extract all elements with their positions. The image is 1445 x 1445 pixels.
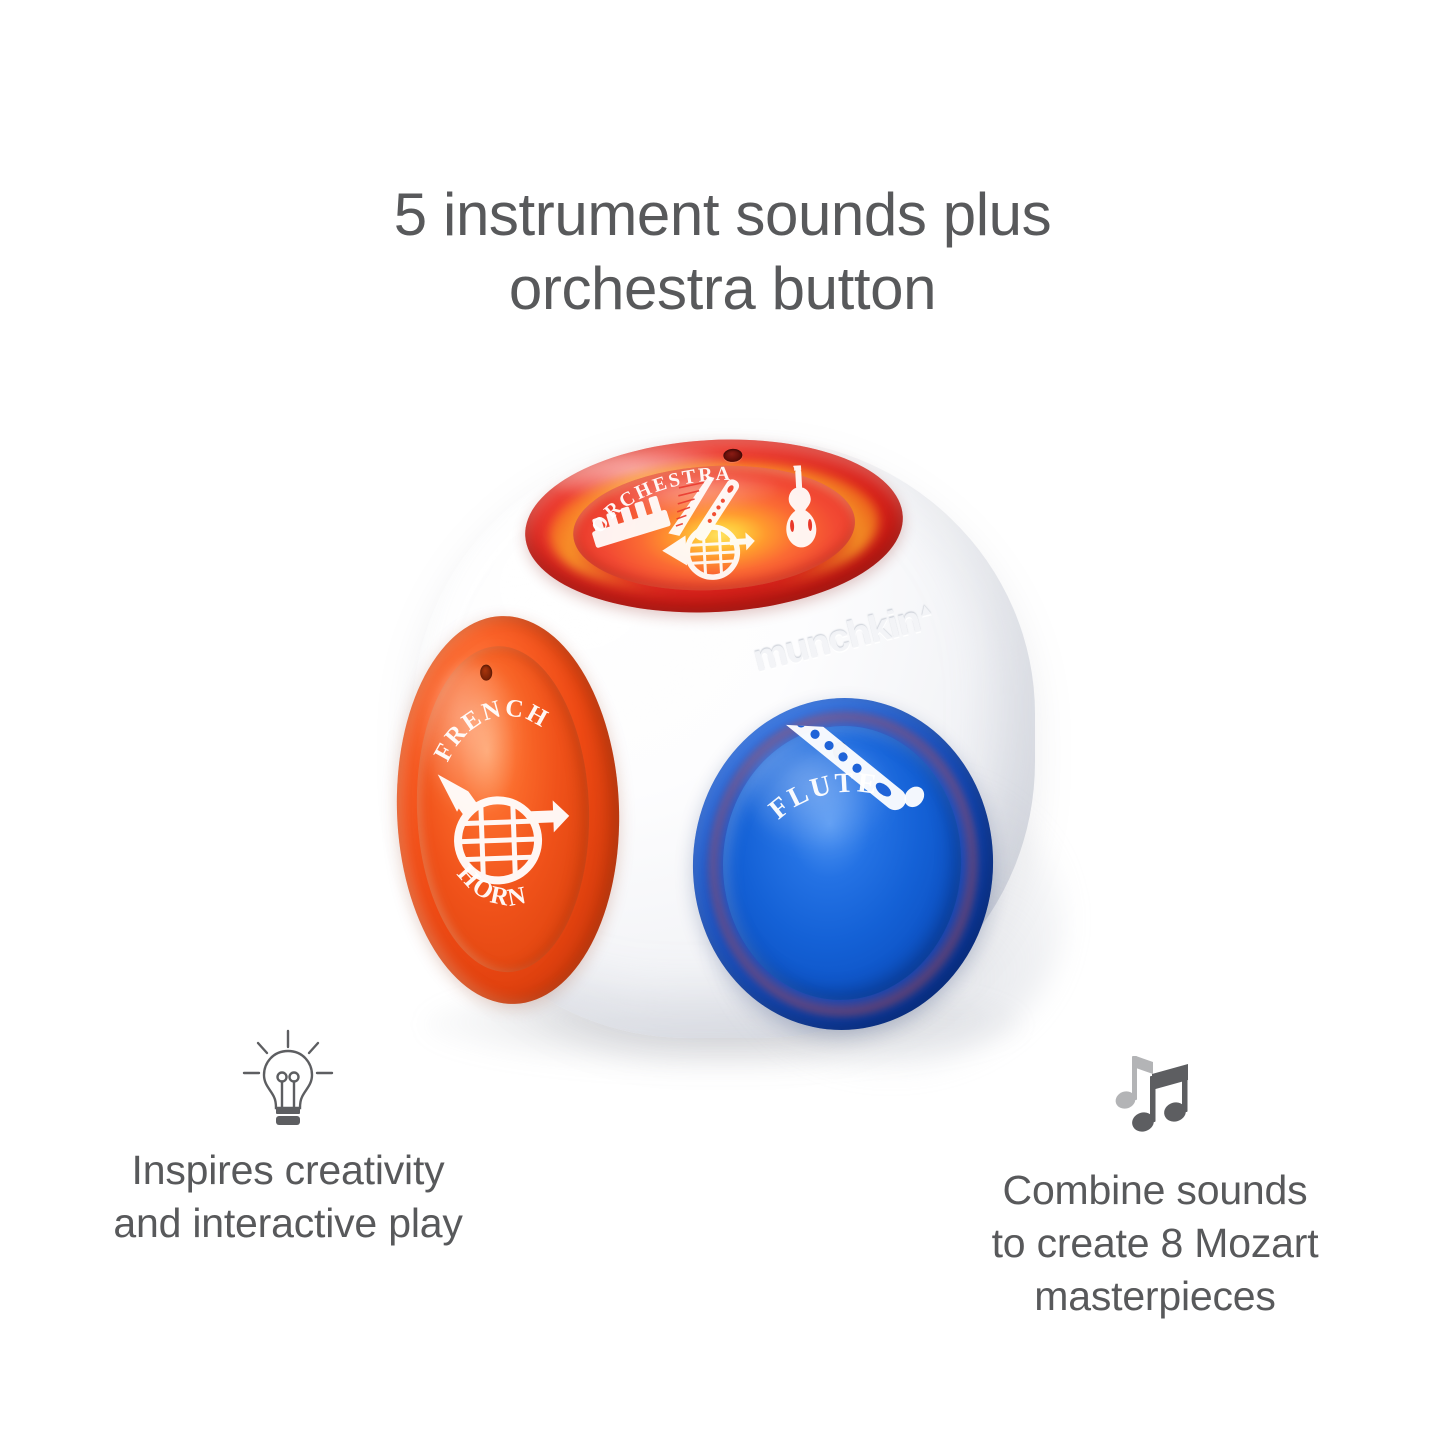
feature-caption-line-2: to create 8 Mozart (915, 1217, 1395, 1270)
page-title-line-2: orchestra button (0, 252, 1445, 326)
french-horn-button[interactable]: FRENCH HORN (390, 612, 625, 1008)
product-image: munchkin▲ ORCHESTRA (385, 420, 1060, 1100)
feature-icon-wrap (915, 1042, 1395, 1154)
orchestra-button[interactable]: ORCHESTRA (521, 430, 907, 622)
feature-inspires-creativity: Inspires creativity and interactive play (48, 1022, 528, 1250)
music-note-single-icon (1113, 1056, 1153, 1111)
feature-caption-line-1: Inspires creativity (48, 1144, 528, 1197)
music-note-beamed-icon (1130, 1064, 1189, 1134)
feature-mozart-masterpieces: Combine sounds to create 8 Mozart master… (915, 1042, 1395, 1323)
lightbulb-icon (234, 1026, 342, 1134)
flute-button[interactable]: FLUTE (685, 690, 1002, 1037)
feature-caption-line-2: and interactive play (48, 1197, 528, 1250)
page-title: 5 instrument sounds plus orchestra butto… (0, 178, 1445, 326)
feature-caption-line-1: Combine sounds (915, 1164, 1395, 1217)
feature-caption-line-3: masterpieces (915, 1270, 1395, 1323)
feature-caption: Inspires creativity and interactive play (48, 1144, 528, 1250)
music-notes-icon (1096, 1050, 1214, 1154)
feature-icon-wrap (48, 1022, 528, 1134)
page-title-line-1: 5 instrument sounds plus (0, 178, 1445, 252)
feature-caption: Combine sounds to create 8 Mozart master… (915, 1164, 1395, 1323)
